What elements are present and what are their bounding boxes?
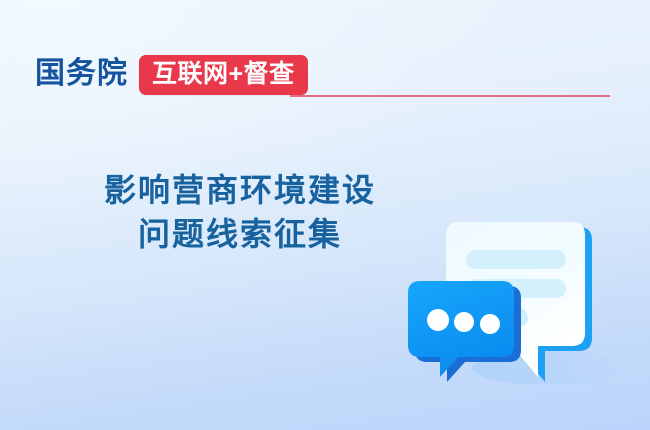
promo-banner: 国务院 互联网+督查 影响营商环境建设 问题线索征集 — [0, 0, 650, 430]
gov-name-label: 国务院 — [35, 59, 128, 91]
typing-dot-1 — [427, 309, 449, 331]
chat-bubbles-svg — [400, 205, 630, 410]
typing-dot-3 — [480, 314, 500, 334]
header-divider-rule — [290, 95, 610, 97]
internet-plus-supervision-badge: 互联网+督查 — [139, 55, 308, 95]
header-lockup: 国务院 互联网+督查 — [35, 52, 308, 98]
typing-dot-2 — [454, 312, 474, 332]
badge-label: 互联网+督查 — [152, 62, 295, 87]
large-bubble-text-bar-1 — [466, 250, 566, 269]
chat-bubbles-illustration — [400, 205, 630, 410]
